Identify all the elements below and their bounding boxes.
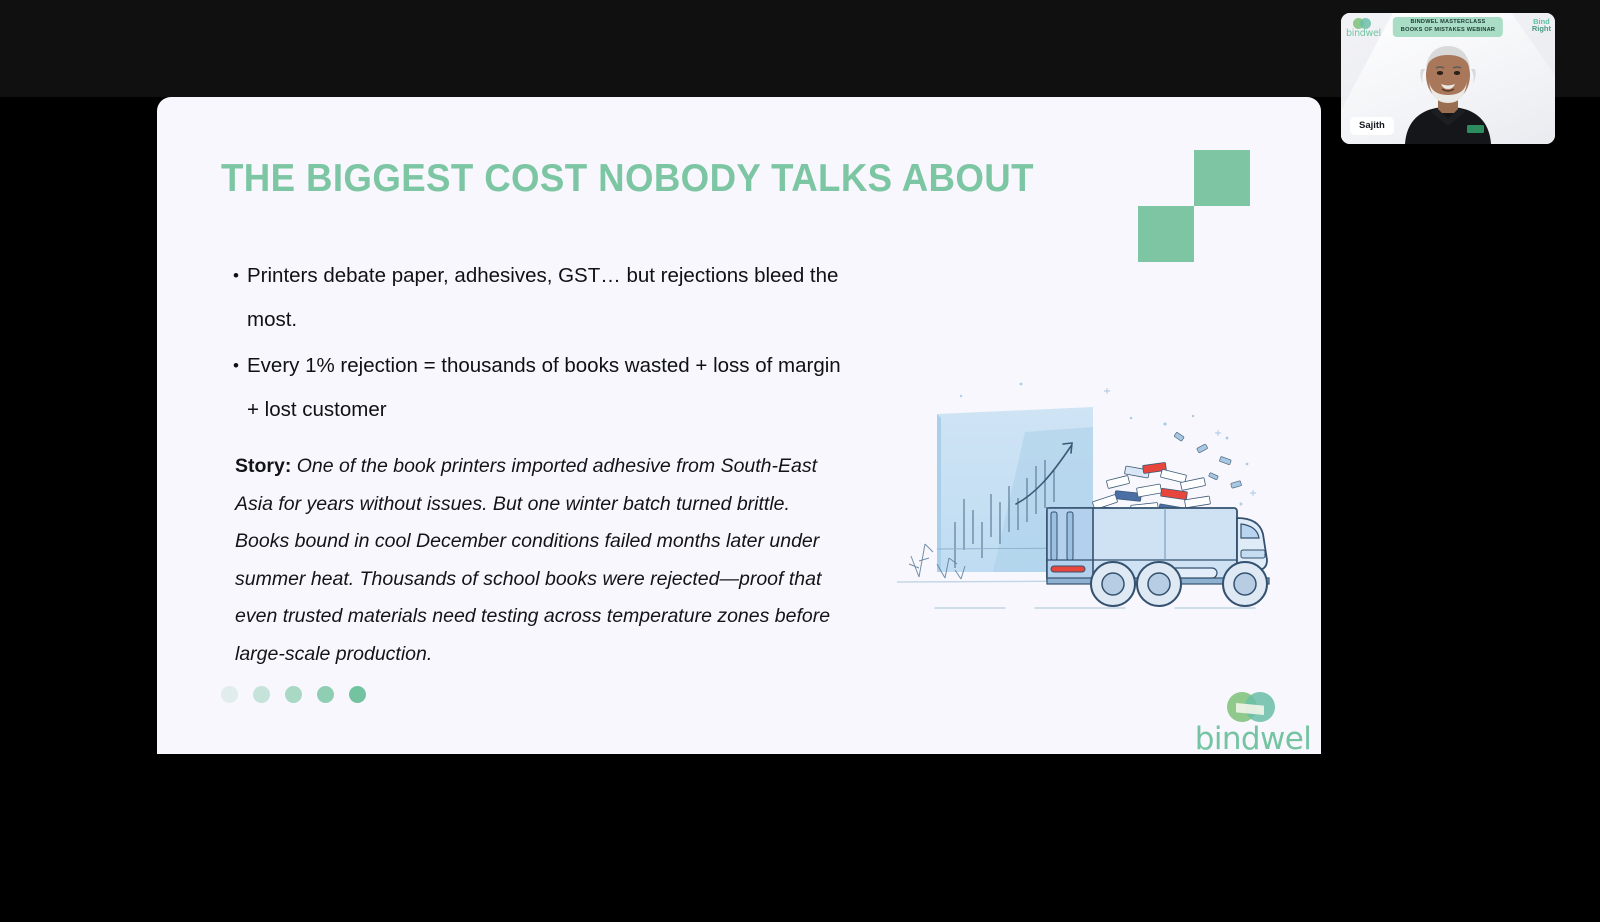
bindright-line-2: Right — [1532, 25, 1551, 32]
participant-name-label: Sajith — [1350, 117, 1394, 135]
bindright-logo: Bind Right — [1532, 18, 1551, 32]
slide-progress-dots[interactable] — [221, 686, 366, 703]
bindwel-logo: bindwel Solutioning Beyond Expectations — [1187, 692, 1319, 754]
webcam-bindwel-logo: bindwel — [1346, 18, 1381, 39]
decorative-square-upper — [1194, 150, 1250, 206]
webcam-bindwel-wordmark: bindwel — [1346, 29, 1381, 39]
decorative-square-lower — [1138, 206, 1194, 262]
bullet-list: Printers debate paper, adhesives, GST… b… — [235, 254, 845, 432]
progress-dot-4[interactable] — [317, 686, 334, 703]
story-label: Story: — [235, 455, 291, 477]
bindwel-mark-icon — [1227, 692, 1279, 722]
story-paragraph: Story: One of the book printers imported… — [235, 448, 835, 674]
meeting-screen: THE BIGGEST COST NOBODY TALKS ABOUT Prin… — [0, 0, 1600, 922]
progress-dot-1[interactable] — [221, 686, 238, 703]
progress-dot-5[interactable] — [349, 686, 366, 703]
presentation-slide[interactable]: THE BIGGEST COST NOBODY TALKS ABOUT Prin… — [157, 97, 1321, 754]
list-item: Every 1% rejection = thousands of books … — [235, 344, 845, 432]
webinar-title-banner: BINDWEL MASTERCLASS BOOKS OF MISTAKES WE… — [1393, 17, 1503, 37]
list-item: Printers debate paper, adhesives, GST… b… — [235, 254, 845, 342]
webinar-banner-line-1: BINDWEL MASTERCLASS — [1401, 19, 1495, 27]
page-title: THE BIGGEST COST NOBODY TALKS ABOUT — [221, 157, 1034, 201]
webinar-banner-line-2: BOOKS OF MISTAKES WEBINAR — [1401, 27, 1495, 35]
slide-body: Printers debate paper, adhesives, GST… b… — [235, 254, 845, 674]
participant-video-tile[interactable]: bindwel BINDWEL MASTERCLASS BOOKS OF MIS… — [1341, 13, 1555, 144]
truck-books-illustration — [875, 372, 1275, 612]
progress-dot-3[interactable] — [285, 686, 302, 703]
bindwel-wordmark: bindwel — [1187, 723, 1319, 754]
story-text: One of the book printers imported adhesi… — [235, 455, 830, 665]
progress-dot-2[interactable] — [253, 686, 270, 703]
